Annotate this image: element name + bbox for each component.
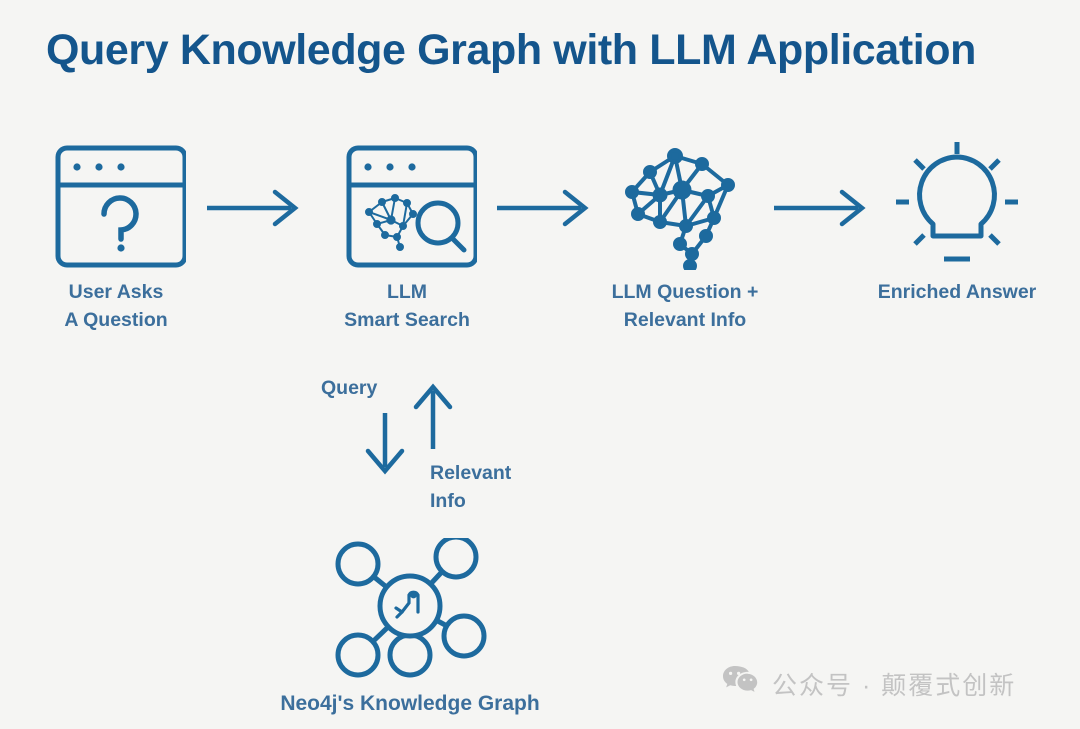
brain-network-icon-svg: [620, 140, 750, 270]
arrow-right-icon: [495, 188, 591, 228]
browser-question-icon: [16, 140, 216, 270]
brain-network-icon: [585, 140, 785, 270]
browser-question-icon-svg: [46, 140, 186, 270]
browser-brain-search-icon: [307, 140, 507, 270]
flow-step-enriched-answer: Enriched Answer: [857, 140, 1057, 306]
wechat-icon-svg: [722, 665, 758, 695]
flow-step-user-asks: User Asks A Question: [16, 140, 216, 335]
page-title: Query Knowledge Graph with LLM Applicati…: [46, 26, 976, 75]
neo4j-knowledge-graph-icon-svg: [320, 538, 500, 678]
watermark: 公众号 · 颠覆式创新: [722, 665, 1016, 702]
diagram-canvas: Query Knowledge Graph with LLM Applicati…: [0, 0, 1080, 729]
flow-step-label: LLM Smart Search: [307, 278, 507, 335]
knowledge-graph-label: Neo4j's Knowledge Graph: [180, 692, 640, 716]
wechat-icon: [722, 665, 758, 702]
lightbulb-icon-svg: [892, 140, 1022, 270]
browser-brain-search-icon-svg: [337, 140, 477, 270]
arrow-down-icon: [368, 413, 402, 471]
arrow-up-icon: [416, 387, 450, 449]
watermark-text: 公众号 · 颠覆式创新: [772, 666, 1016, 702]
flow-step-llm-smart-search: LLM Smart Search: [307, 140, 507, 335]
arrow-right-icon-svg: [205, 188, 301, 228]
flow-step-label: LLM Question + Relevant Info: [585, 278, 785, 335]
arrow-right-icon-svg: [772, 188, 868, 228]
arrow-right-icon: [772, 188, 868, 228]
lightbulb-icon: [857, 140, 1057, 270]
neo4j-knowledge-graph-icon: [320, 538, 500, 678]
relevant-info-label: Relevant Info: [430, 459, 511, 516]
arrow-right-icon-svg: [495, 188, 591, 228]
flow-step-label: User Asks A Question: [16, 278, 216, 335]
flow-step-llm-question-relevant-info: LLM Question + Relevant Info: [585, 140, 785, 335]
arrow-right-icon: [205, 188, 301, 228]
flow-step-label: Enriched Answer: [857, 278, 1057, 306]
